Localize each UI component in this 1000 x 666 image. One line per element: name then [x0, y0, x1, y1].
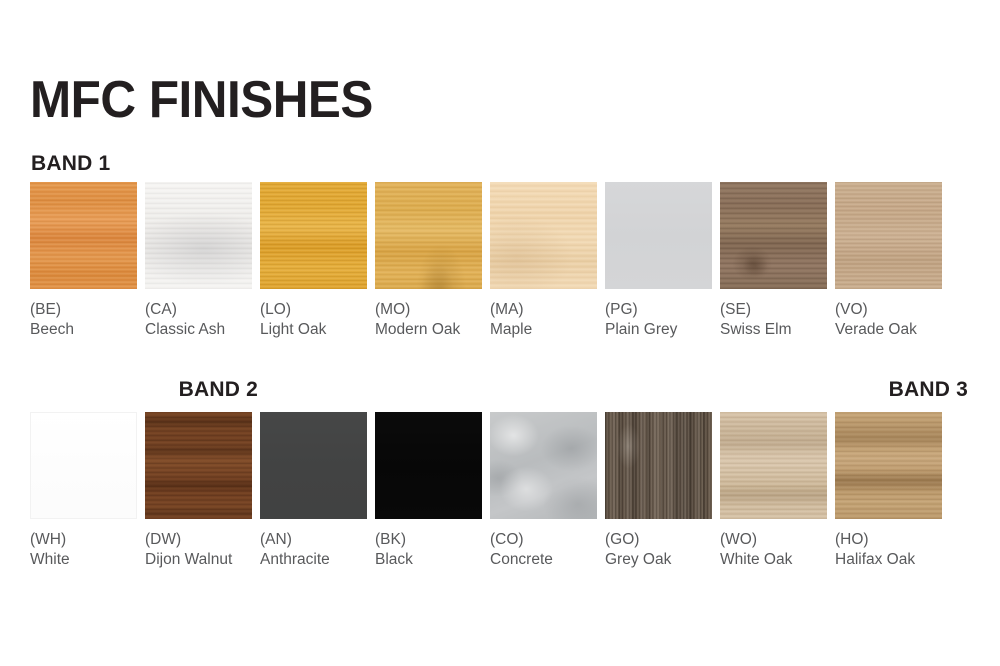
finish-name: Swiss Elm	[720, 320, 827, 340]
finish-cell[interactable]: (WH)White	[30, 412, 137, 569]
finish-name: Concrete	[490, 550, 597, 570]
finish-code: (SE)	[720, 300, 827, 320]
finish-swatch-lo[interactable]	[260, 182, 367, 289]
finish-name: Plain Grey	[605, 320, 712, 340]
finish-row-1: (BE)Beech(CA)Classic Ash(LO)Light Oak(MO…	[30, 182, 970, 342]
finish-code: (CO)	[490, 530, 597, 550]
finish-code: (MO)	[375, 300, 482, 320]
finish-swatch-mo[interactable]	[375, 182, 482, 289]
finish-swatch-se[interactable]	[720, 182, 827, 289]
finish-name: Dijon Walnut	[145, 550, 252, 570]
finish-swatch-dw[interactable]	[145, 412, 252, 519]
finish-caption: (CO)Concrete	[490, 530, 597, 569]
finish-swatch-be[interactable]	[30, 182, 137, 289]
finish-caption: (BK)Black	[375, 530, 482, 569]
finish-code: (VO)	[835, 300, 942, 320]
finish-caption: (AN)Anthracite	[260, 530, 367, 569]
finish-name: Beech	[30, 320, 137, 340]
finish-swatch-an[interactable]	[260, 412, 367, 519]
finish-name: Verade Oak	[835, 320, 942, 340]
finish-swatch-go[interactable]	[605, 412, 712, 519]
finish-caption: (MO)Modern Oak	[375, 300, 482, 339]
finish-caption: (WH)White	[30, 530, 137, 569]
finish-cell[interactable]: (GO)Grey Oak	[605, 412, 712, 569]
finish-swatch-pg[interactable]	[605, 182, 712, 289]
finish-code: (BK)	[375, 530, 482, 550]
finish-caption: (VO)Verade Oak	[835, 300, 942, 339]
finish-caption: (MA)Maple	[490, 300, 597, 339]
finish-cell[interactable]: (HO)Halifax Oak	[835, 412, 942, 569]
finish-code: (BE)	[30, 300, 137, 320]
finish-caption: (PG)Plain Grey	[605, 300, 712, 339]
finish-cell[interactable]: (DW)Dijon Walnut	[145, 412, 252, 569]
finish-caption: (HO)Halifax Oak	[835, 530, 942, 569]
finish-cell[interactable]: (CO)Concrete	[490, 412, 597, 569]
finish-cell[interactable]: (WO)White Oak	[720, 412, 827, 569]
finish-swatch-vo[interactable]	[835, 182, 942, 289]
finish-code: (WH)	[30, 530, 137, 550]
finish-code: (AN)	[260, 530, 367, 550]
finish-name: Classic Ash	[145, 320, 252, 340]
finish-swatch-ma[interactable]	[490, 182, 597, 289]
finish-code: (CA)	[145, 300, 252, 320]
finish-cell[interactable]: (SE)Swiss Elm	[720, 182, 827, 339]
finish-caption: (WO)White Oak	[720, 530, 827, 569]
finish-caption: (LO)Light Oak	[260, 300, 367, 339]
finish-cell[interactable]: (AN)Anthracite	[260, 412, 367, 569]
finish-row-2: (WH)White(DW)Dijon Walnut(AN)Anthracite(…	[30, 412, 970, 572]
finish-swatch-ho[interactable]	[835, 412, 942, 519]
finish-code: (HO)	[835, 530, 942, 550]
finish-swatch-ca[interactable]	[145, 182, 252, 289]
finish-code: (MA)	[490, 300, 597, 320]
finish-name: Halifax Oak	[835, 550, 942, 570]
finish-code: (DW)	[145, 530, 252, 550]
page-title: MFC FINISHES	[30, 72, 373, 128]
finish-name: Black	[375, 550, 482, 570]
finish-caption: (SE)Swiss Elm	[720, 300, 827, 339]
finish-name: Maple	[490, 320, 597, 340]
finish-swatch-wh[interactable]	[30, 412, 137, 519]
finish-name: Modern Oak	[375, 320, 482, 340]
finish-name: White Oak	[720, 550, 827, 570]
finish-code: (GO)	[605, 530, 712, 550]
finish-code: (PG)	[605, 300, 712, 320]
finish-cell[interactable]: (BE)Beech	[30, 182, 137, 339]
finish-swatch-co[interactable]	[490, 412, 597, 519]
finish-caption: (CA)Classic Ash	[145, 300, 252, 339]
finish-name: Grey Oak	[605, 550, 712, 570]
finish-cell[interactable]: (CA)Classic Ash	[145, 182, 252, 339]
band-3-heading: BAND 3	[0, 378, 968, 402]
finish-cell[interactable]: (PG)Plain Grey	[605, 182, 712, 339]
finish-code: (WO)	[720, 530, 827, 550]
finish-swatch-bk[interactable]	[375, 412, 482, 519]
finish-caption: (GO)Grey Oak	[605, 530, 712, 569]
finish-cell[interactable]: (MA)Maple	[490, 182, 597, 339]
band-1-heading: BAND 1	[31, 152, 110, 176]
finish-name: Anthracite	[260, 550, 367, 570]
finish-swatch-wo[interactable]	[720, 412, 827, 519]
finish-name: Light Oak	[260, 320, 367, 340]
finish-cell[interactable]: (VO)Verade Oak	[835, 182, 942, 339]
mfc-finishes-page: MFC FINISHES BAND 1 BAND 2 BAND 3 (BE)Be…	[0, 0, 1000, 666]
finish-name: White	[30, 550, 137, 570]
finish-cell[interactable]: (BK)Black	[375, 412, 482, 569]
finish-caption: (BE)Beech	[30, 300, 137, 339]
finish-cell[interactable]: (LO)Light Oak	[260, 182, 367, 339]
finish-code: (LO)	[260, 300, 367, 320]
finish-caption: (DW)Dijon Walnut	[145, 530, 252, 569]
finish-cell[interactable]: (MO)Modern Oak	[375, 182, 482, 339]
